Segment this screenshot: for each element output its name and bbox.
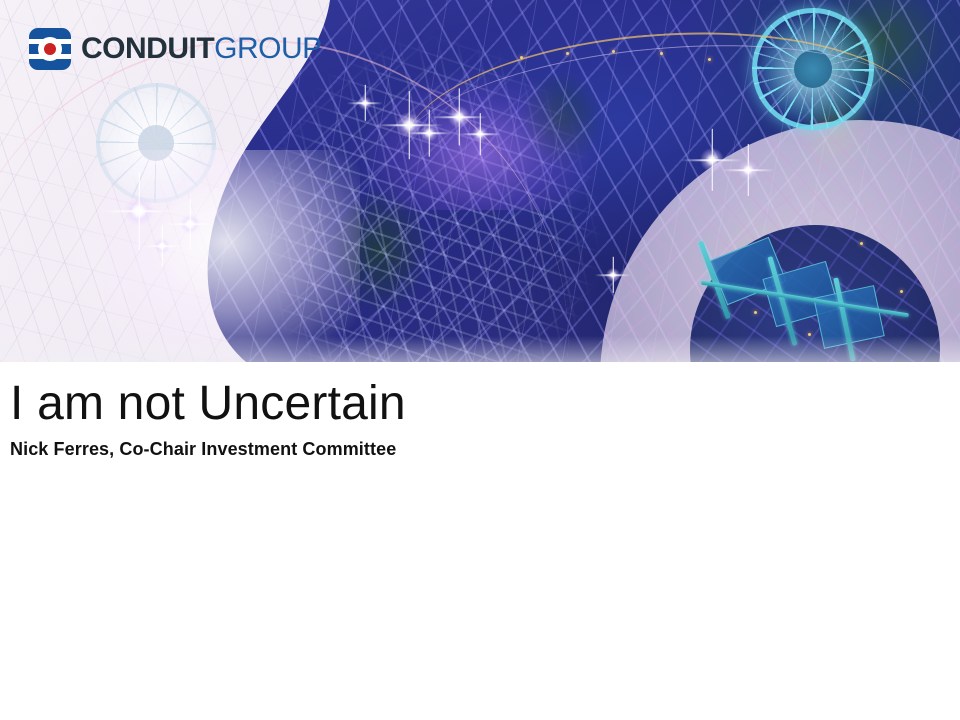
logo-word-conduit: CONDUIT (81, 32, 214, 65)
logo-word-group: GROUP (214, 32, 322, 65)
conduit-target-icon (29, 28, 71, 70)
hero-lens-bloom (60, 150, 360, 362)
slide-text-block: I am not Uncertain Nick Ferres, Co-Chair… (0, 362, 960, 460)
hero-banner-image: CONDUITGROUP (0, 0, 960, 362)
logo-wordmark: CONDUITGROUP (81, 34, 322, 64)
page-subtitle: Nick Ferres, Co-Chair Investment Committ… (10, 439, 960, 460)
presentation-slide: CONDUITGROUP I am not Uncertain Nick Fer… (0, 0, 960, 720)
page-title: I am not Uncertain (10, 379, 960, 429)
hero-bottom-fade (0, 336, 960, 362)
conduit-group-logo[interactable]: CONDUITGROUP (29, 28, 322, 70)
